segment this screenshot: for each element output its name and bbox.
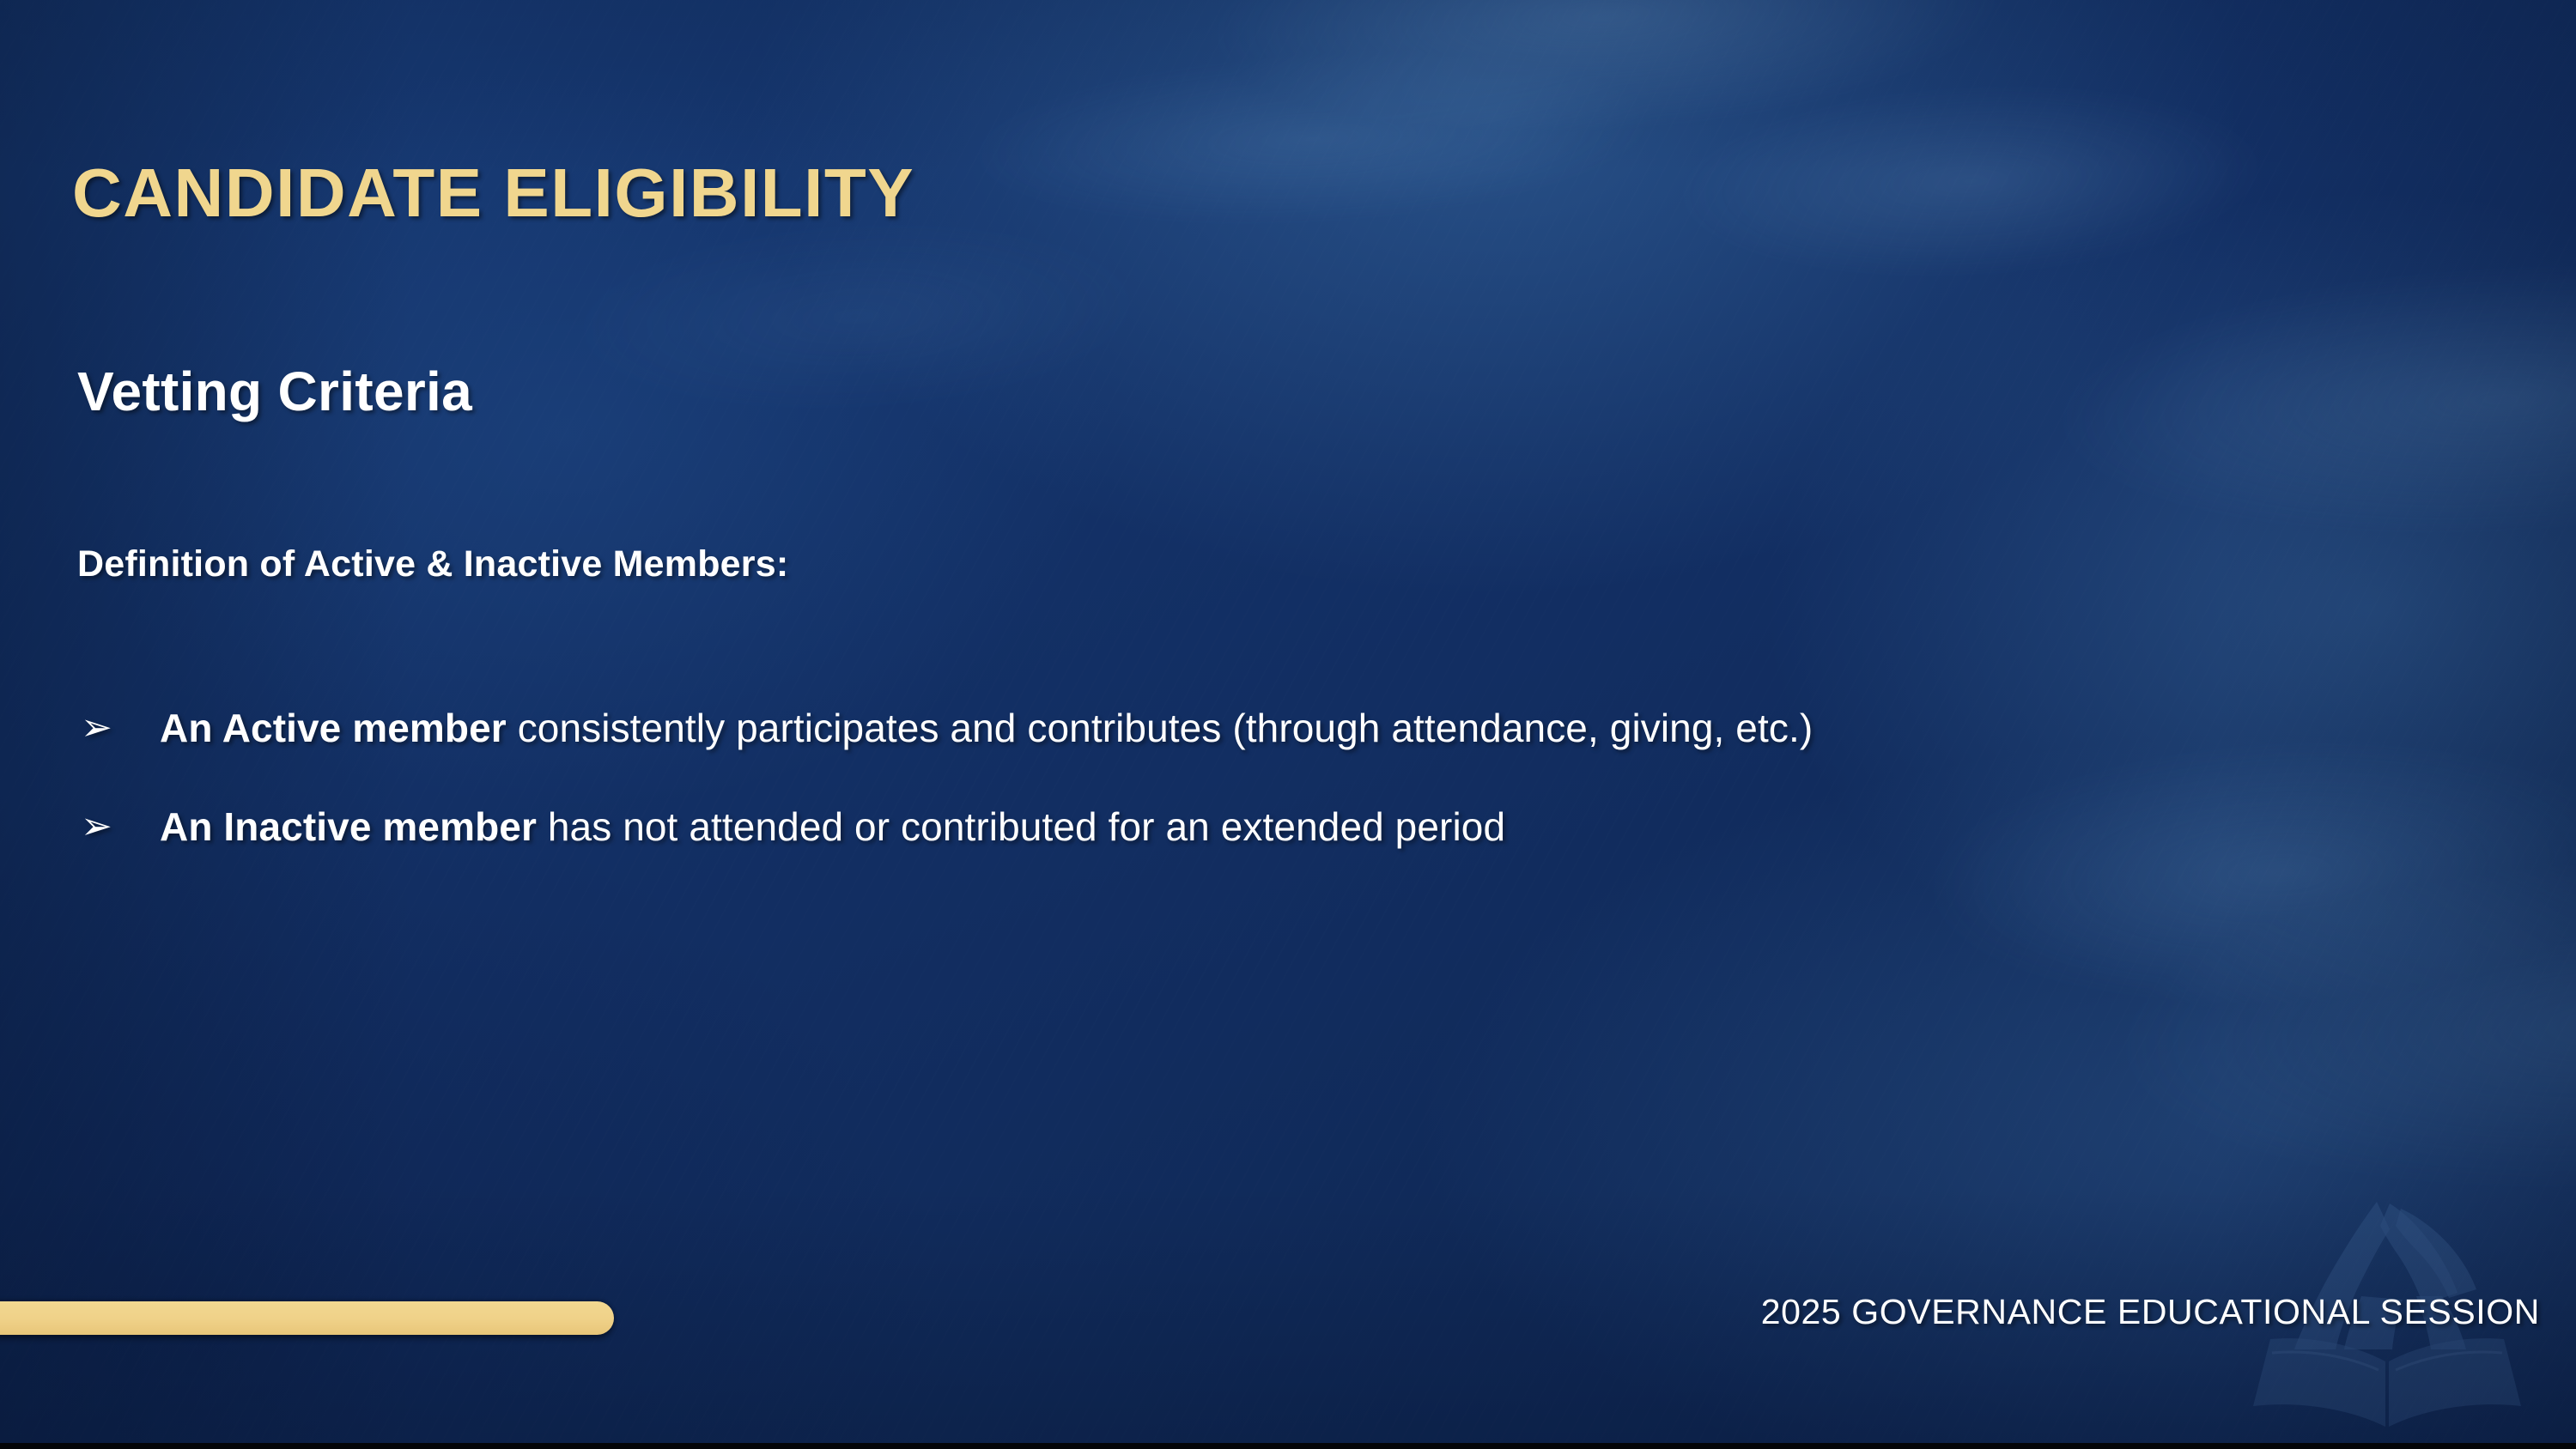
bullet-item-active: ➢ An Active member consistently particip… — [76, 704, 2523, 753]
bottom-edge-strip — [0, 1443, 2576, 1449]
section-subheading: Definition of Active & Inactive Members: — [77, 543, 788, 585]
bullet-item-inactive: ➢ An Inactive member has not attended or… — [76, 803, 2523, 852]
bullet-lead-text: An Active member — [160, 706, 507, 750]
bullet-list: ➢ An Active member consistently particip… — [76, 704, 2523, 851]
gold-accent-bar — [0, 1301, 614, 1335]
bullet-lead-text: An Inactive member — [160, 804, 537, 849]
presentation-slide: CANDIDATE ELIGIBILITY Vetting Criteria D… — [0, 0, 2576, 1449]
section-heading: Vetting Criteria — [77, 360, 472, 423]
arrow-bullet-icon: ➢ — [81, 705, 112, 751]
bullet-body-text: has not attended or contributed for an e… — [537, 804, 1505, 849]
slide-title: CANDIDATE ELIGIBILITY — [72, 154, 914, 233]
arrow-bullet-icon: ➢ — [81, 803, 112, 850]
bullet-body-text: consistently participates and contribute… — [507, 706, 1813, 750]
footer-session-label: 2025 GOVERNANCE EDUCATIONAL SESSION — [1761, 1292, 2540, 1332]
